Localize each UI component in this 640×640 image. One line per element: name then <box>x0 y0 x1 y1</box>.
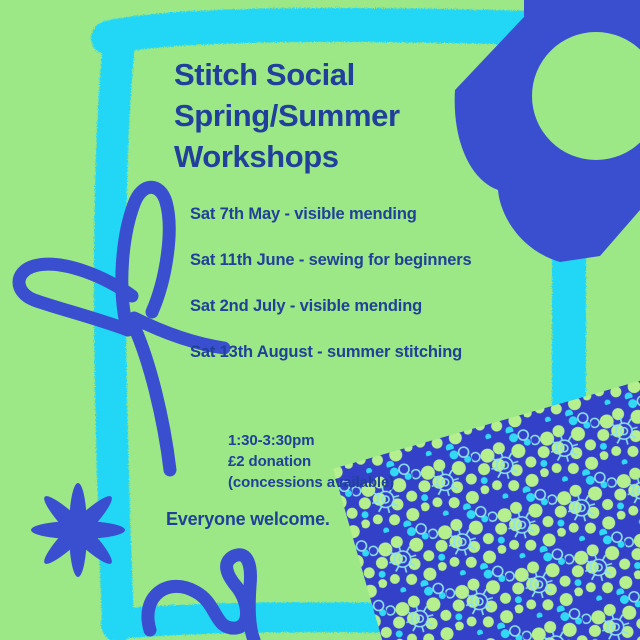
details-block: 1:30-3:30pm £2 donation (concessions ava… <box>228 430 558 493</box>
list-item: Sat 13th August - summer stitching <box>190 342 590 363</box>
session-list: Sat 7th May - visible mending Sat 11th J… <box>190 204 590 388</box>
poster-canvas: Stitch Social Spring/Summer Workshops Sa… <box>0 0 640 640</box>
detail-concessions: (concessions available) <box>228 472 558 493</box>
headline-line-3: Workshops <box>174 136 504 177</box>
page-title: Stitch Social Spring/Summer Workshops <box>174 54 504 177</box>
list-item: Sat 7th May - visible mending <box>190 204 590 225</box>
detail-price: £2 donation <box>228 451 558 472</box>
headline-line-1: Stitch Social <box>174 54 504 95</box>
welcome-message: Everyone welcome. <box>166 509 330 530</box>
list-item: Sat 2nd July - visible mending <box>190 296 590 317</box>
poster-text: Stitch Social Spring/Summer Workshops Sa… <box>0 0 640 640</box>
list-item: Sat 11th June - sewing for beginners <box>190 250 590 271</box>
detail-time: 1:30-3:30pm <box>228 430 558 451</box>
headline-line-2: Spring/Summer <box>174 95 504 136</box>
